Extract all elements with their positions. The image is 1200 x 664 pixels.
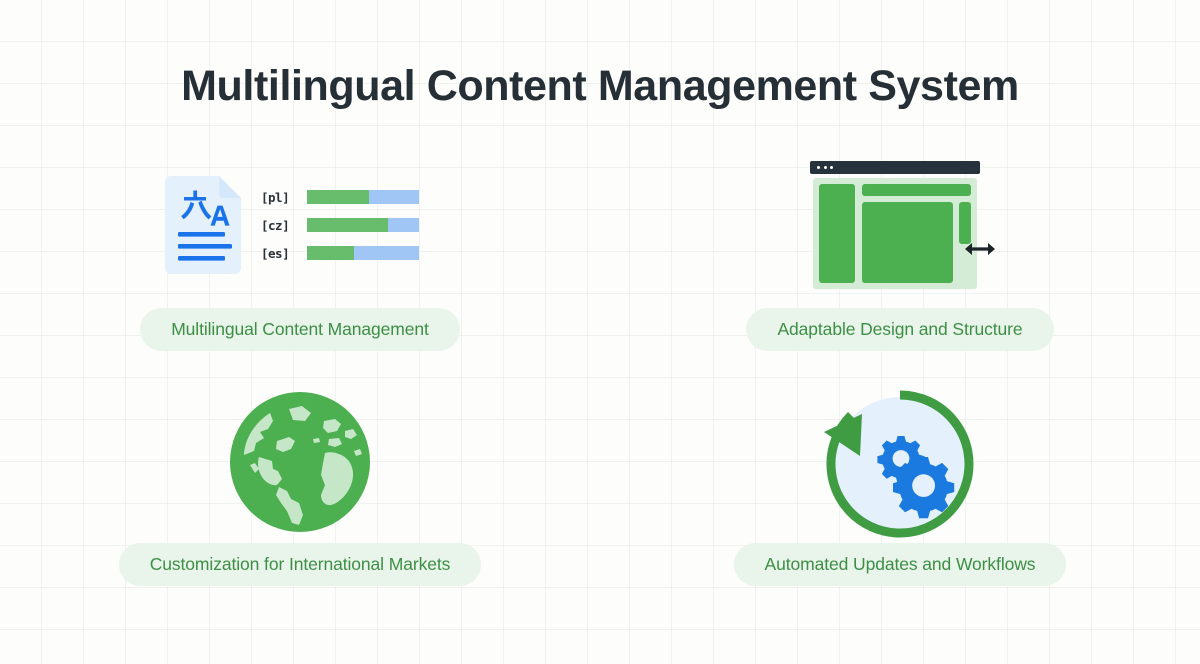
language-code: [pl] — [261, 190, 295, 205]
feature-card-automated-updates-and-workflows: Automated Updates and Workflows — [600, 385, 1200, 620]
feature-grid: [pl] [cz] [es] — [0, 150, 1200, 620]
globe-icon — [229, 389, 371, 531]
feature-label-customization-for-international-markets: Customization for International Markets — [119, 543, 482, 586]
browser-window-mockup — [810, 161, 980, 289]
layout-block-sidebar — [819, 184, 855, 283]
resize-horizontal-icon — [963, 239, 997, 259]
feature-card-multilingual-content-management: [pl] [cz] [es] — [0, 150, 600, 385]
language-row: [pl] — [261, 190, 419, 205]
browser-titlebar — [810, 161, 980, 174]
page-title: Multilingual Content Management System — [0, 62, 1200, 111]
window-dot-icon — [817, 166, 820, 169]
browser-content-area — [813, 178, 977, 289]
layout-block-main — [862, 202, 953, 283]
refresh-gears-icon — [822, 382, 978, 538]
window-dot-icon — [824, 166, 827, 169]
globe-visual — [0, 385, 600, 535]
language-progress-fill — [307, 190, 369, 204]
language-code: [es] — [261, 246, 295, 261]
window-dot-icon — [830, 166, 833, 169]
translate-document-icon — [165, 176, 241, 274]
language-progress-list: [pl] [cz] [es] — [261, 190, 419, 261]
language-progress-bar — [307, 218, 419, 232]
browser-layout-visual — [600, 150, 1200, 300]
language-row: [cz] — [261, 218, 419, 233]
feature-label-automated-updates-and-workflows: Automated Updates and Workflows — [734, 543, 1067, 586]
feature-card-customization-for-international-markets: Customization for International Markets — [0, 385, 600, 620]
translate-visual: [pl] [cz] [es] — [0, 150, 600, 300]
language-code: [cz] — [261, 218, 295, 233]
feature-label-multilingual-content-management: Multilingual Content Management — [140, 308, 460, 351]
language-progress-bar — [307, 246, 419, 260]
automation-visual — [600, 385, 1200, 535]
language-row: [es] — [261, 246, 419, 261]
language-progress-fill — [307, 246, 354, 260]
layout-block-header — [862, 184, 971, 196]
layout-block-aside — [959, 202, 971, 244]
feature-card-adaptable-design-and-structure: Adaptable Design and Structure — [600, 150, 1200, 385]
language-progress-bar — [307, 190, 419, 204]
feature-label-adaptable-design-and-structure: Adaptable Design and Structure — [746, 308, 1053, 351]
language-progress-fill — [307, 218, 388, 232]
